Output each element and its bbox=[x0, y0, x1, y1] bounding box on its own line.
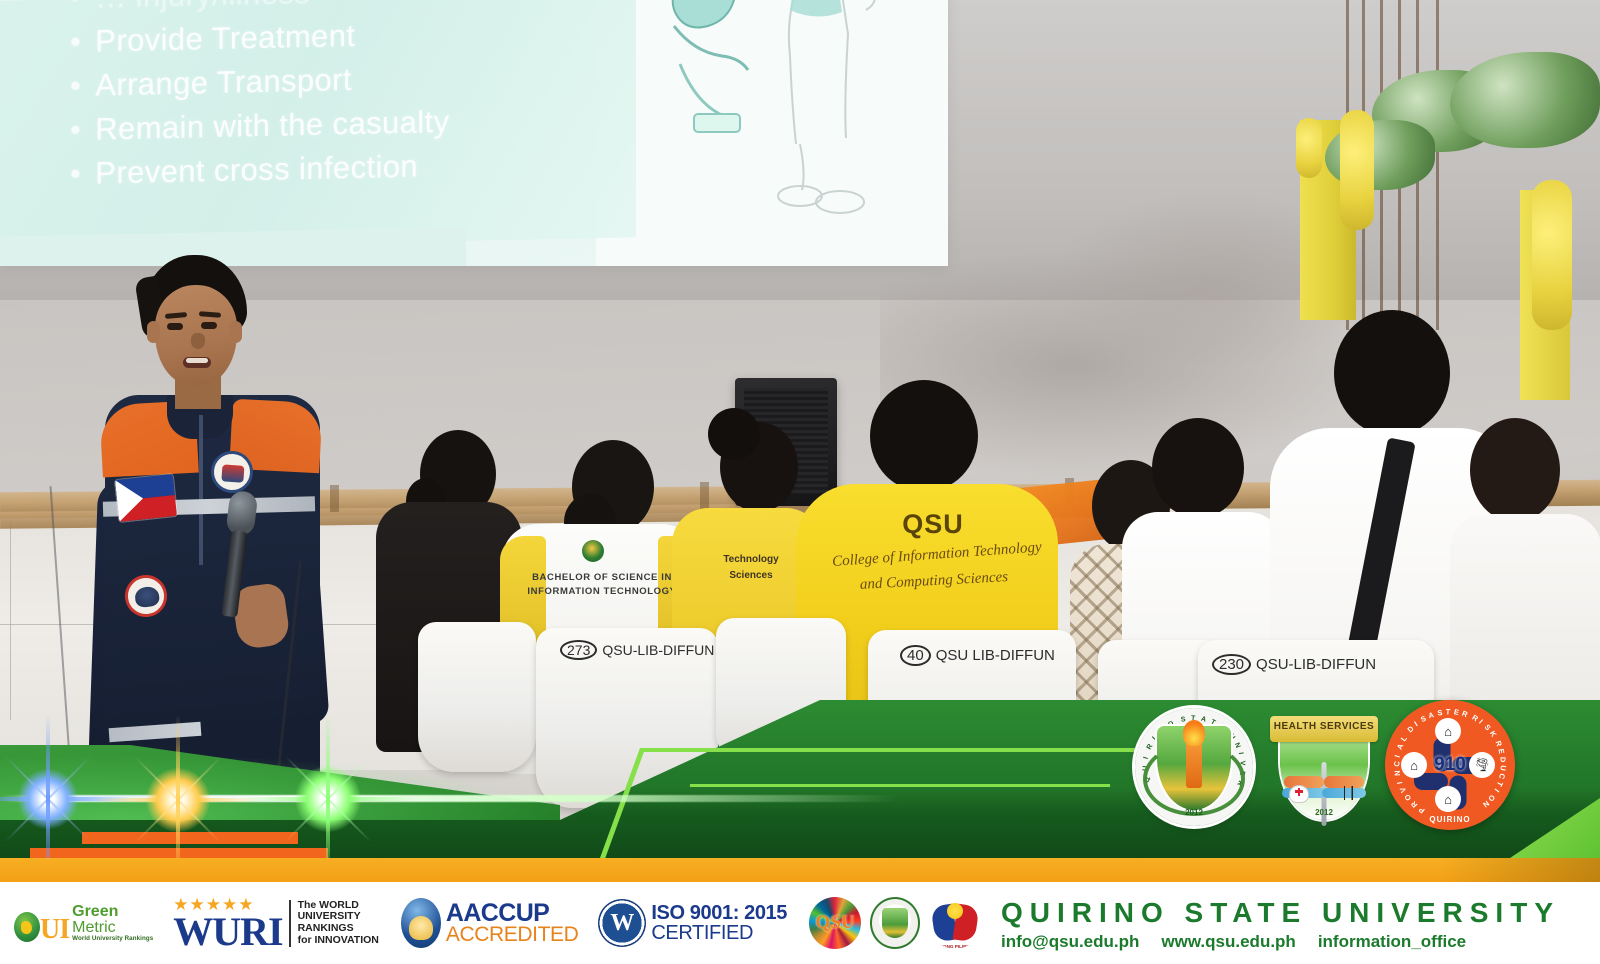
green-shirt-text: QSU bbox=[714, 763, 835, 799]
attendee-head bbox=[1470, 418, 1560, 522]
aaccup-line-1: AACCUP bbox=[446, 902, 579, 925]
qsu-health-services-seal: HEALTH SERVICES 2012 bbox=[1268, 706, 1380, 826]
presenter-nose bbox=[191, 333, 205, 349]
health-services-ribbon-text: HEALTH SERVICES bbox=[1270, 721, 1378, 732]
chair-code: QSU-LIB-DIFFUN bbox=[1256, 656, 1376, 673]
laurel-wreath-icon bbox=[1143, 742, 1245, 816]
wuri-logo: ★★★★★ WURI The WORLD UNIVERSITY RANKINGS… bbox=[173, 896, 379, 951]
aaccup-emblem-icon bbox=[401, 898, 441, 948]
uigm-green-text: Green bbox=[72, 904, 153, 920]
gold-divider-strip bbox=[0, 858, 1600, 882]
ui-greenmetric-logo: UI Green Metric World University Ranking… bbox=[14, 904, 153, 942]
pdrrmc-seal: P R O V I N C I A L D I S A S T E R R I … bbox=[1385, 700, 1515, 830]
uigm-ui-text: UI bbox=[40, 918, 69, 942]
university-crest-print bbox=[582, 540, 604, 562]
uigm-metric-text: Metric bbox=[72, 920, 153, 936]
iso-wordmark: ISO 9001: 2015 CERTIFIED bbox=[651, 903, 787, 943]
uigm-wordmark: Green Metric World University Rankings bbox=[72, 904, 153, 942]
philippine-flag-patch bbox=[115, 474, 177, 522]
ecg-line-icon bbox=[1338, 786, 1368, 800]
chair-number: 40 bbox=[900, 645, 931, 666]
yellow-flower-cluster bbox=[1532, 180, 1572, 330]
attendee-hair-bun bbox=[708, 408, 760, 460]
yellow-flower-cluster bbox=[1340, 110, 1374, 230]
pdrrmc-bottom-text: QUIRINO bbox=[1385, 815, 1515, 824]
red-cross-icon bbox=[1298, 788, 1301, 796]
wing-icon bbox=[1284, 776, 1324, 788]
flood-house-icon: ⌂ bbox=[1401, 752, 1427, 778]
iso-line-2: CERTIFIED bbox=[651, 923, 787, 943]
presenter bbox=[95, 255, 345, 815]
qsu-seal-year: 2012 bbox=[1135, 808, 1253, 817]
attendee-head bbox=[1152, 418, 1244, 518]
presenter-eye bbox=[201, 322, 217, 329]
footer-bar: UI Green Metric World University Ranking… bbox=[0, 882, 1600, 964]
qsu-seal-small bbox=[870, 897, 920, 949]
lens-flare-streak bbox=[0, 795, 900, 802]
university-contacts: info@qsu.edu.ph www.qsu.edu.ph informati… bbox=[1001, 932, 1560, 952]
pdrrmc-hotline-number: 910 bbox=[1434, 754, 1466, 776]
contact-email[interactable]: info@qsu.edu.ph bbox=[1001, 932, 1139, 952]
university-name: QUIRINO STATE UNIVERSITY bbox=[1001, 895, 1560, 930]
slide-bullet-4: Prevent cross infection bbox=[70, 144, 449, 196]
chair-label-3: 230QSU-LIB-DIFFUN bbox=[1212, 654, 1376, 675]
globe-icon bbox=[14, 912, 40, 942]
chair-code: QSU LIB-DIFFUN bbox=[936, 647, 1055, 664]
presenter-eye bbox=[167, 323, 183, 330]
wuri-wordmark: WURI bbox=[173, 913, 282, 951]
bagong-pilipinas-label: BAGONG PILIPINAS bbox=[929, 944, 981, 949]
chair-label-1: 273QSU-LIB-DIFFUN bbox=[560, 640, 714, 660]
shirt-line-2: INFORMATION TECHNOLOGY bbox=[518, 586, 686, 598]
chair-label-2: 40QSU LIB-DIFFUN bbox=[900, 645, 1055, 666]
shirt-acronym: QSU bbox=[878, 508, 988, 542]
partner-logos: QSU BAGONG PILIPINAS bbox=[809, 897, 981, 949]
health-seal-year: 2012 bbox=[1268, 808, 1380, 817]
chair-number: 273 bbox=[560, 640, 597, 660]
aaccup-logo: AACCUP ACCREDITED bbox=[401, 898, 579, 948]
iso-line-1: ISO 9001: 2015 bbox=[651, 903, 787, 923]
projected-slide: … injury/illness Provide Treatment Arran… bbox=[0, 0, 948, 266]
house-icon: ⌂ bbox=[1435, 718, 1461, 744]
presenter-ear bbox=[147, 321, 160, 343]
presenter-jacket-zipper bbox=[199, 415, 203, 565]
bagong-pilipinas-logo: BAGONG PILIPINAS bbox=[929, 897, 981, 949]
wuri-tagline: The WORLD UNIVERSITY RANKINGS for INNOVA… bbox=[289, 900, 379, 947]
sdg-qsu-logo: QSU bbox=[809, 897, 861, 949]
screenshot-root: … injury/illness Provide Treatment Arran… bbox=[0, 0, 1600, 964]
aaccup-wordmark: AACCUP ACCREDITED bbox=[446, 902, 579, 945]
shirt-line-1: BACHELOR OF SCIENCE IN bbox=[522, 572, 682, 584]
iso-mark: W bbox=[610, 910, 634, 937]
yellow-flower-cluster bbox=[1296, 118, 1322, 178]
fire-house-icon: ⌂ bbox=[1435, 786, 1461, 812]
health-services-ribbon: HEALTH SERVICES bbox=[1270, 716, 1378, 742]
cyclone-icon: 🌪 bbox=[1469, 752, 1495, 778]
sdg-qsu-label: QSU bbox=[815, 912, 854, 934]
university-identity: QUIRINO STATE UNIVERSITY info@qsu.edu.ph… bbox=[1001, 895, 1600, 952]
attendee-8 bbox=[1450, 418, 1600, 738]
qsu-seal: Q U I R I N O S T A T E U N I V E R 2012 bbox=[1135, 708, 1253, 826]
attendee-head bbox=[1334, 310, 1450, 436]
wuri-line-4: for INNOVATION bbox=[298, 935, 379, 947]
aaccup-line-2: ACCREDITED bbox=[446, 925, 579, 945]
presenter-teeth bbox=[186, 358, 208, 363]
chair-code: QSU-LIB-DIFFUN bbox=[602, 642, 714, 658]
chair-number: 230 bbox=[1212, 654, 1251, 675]
contact-website[interactable]: www.qsu.edu.ph bbox=[1161, 932, 1295, 952]
iso-logo: W ISO 9001: 2015 CERTIFIED bbox=[598, 899, 787, 947]
presenter-ear bbox=[229, 321, 242, 343]
iso-seal-icon: W bbox=[598, 899, 646, 947]
contact-social[interactable]: information_office bbox=[1318, 932, 1466, 952]
accreditation-logos: UI Green Metric World University Ranking… bbox=[0, 896, 981, 951]
attendee-head bbox=[870, 380, 978, 492]
uigm-subtitle: World University Rankings bbox=[72, 936, 153, 942]
wuri-line-3: RANKINGS bbox=[298, 923, 379, 935]
chair-back bbox=[716, 618, 846, 768]
slide-bullet-list: … injury/illness Provide Treatment Arran… bbox=[70, 0, 449, 196]
slide-figure-responder-icon bbox=[756, 0, 886, 219]
